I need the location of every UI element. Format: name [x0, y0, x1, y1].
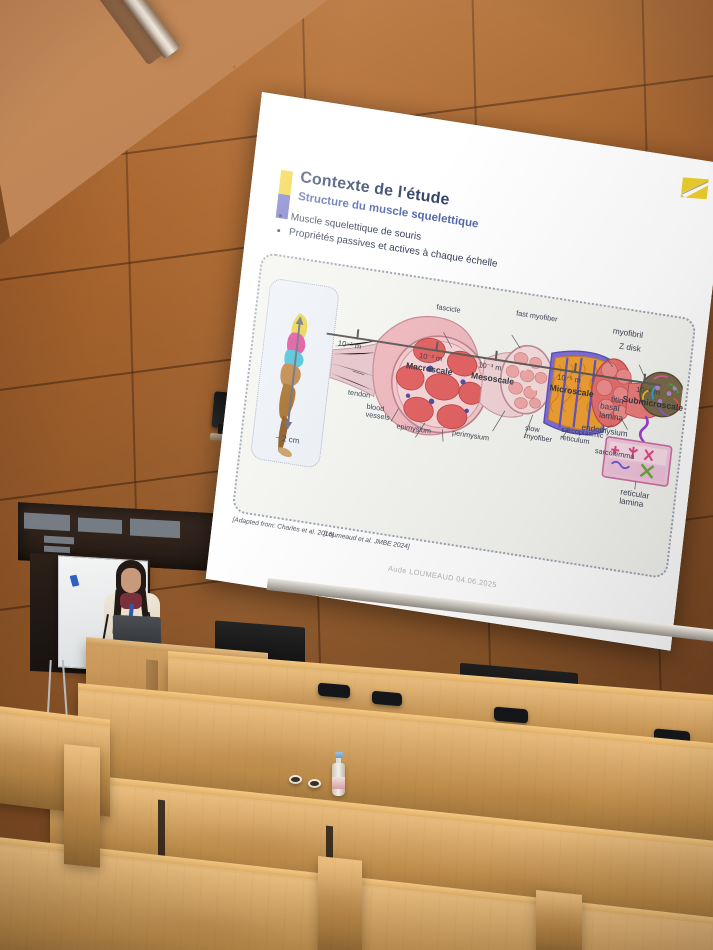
- bench-end-divider: [64, 744, 100, 868]
- presentation-slide: Contexte de l'étude Structure du muscle …: [206, 92, 713, 651]
- audience-chair: [372, 691, 402, 707]
- bench-seat-gap: [158, 800, 165, 859]
- institution-logo-icon: [678, 173, 711, 203]
- bench-end-divider: [318, 856, 362, 950]
- audience-chair: [318, 683, 350, 699]
- projection-screen: Contexte de l'étude Structure du muscle …: [206, 92, 713, 651]
- whiteboard-marker: [70, 575, 80, 587]
- audience-chair: [494, 707, 528, 724]
- coffee-cup: [289, 775, 302, 784]
- water-bottle-cap: [335, 752, 343, 758]
- lecture-hall-photo: Contexte de l'étude Structure du muscle …: [0, 0, 713, 950]
- coffee-cup: [308, 779, 321, 788]
- bench-end-divider: [536, 890, 582, 950]
- water-bottle-label: [332, 777, 345, 789]
